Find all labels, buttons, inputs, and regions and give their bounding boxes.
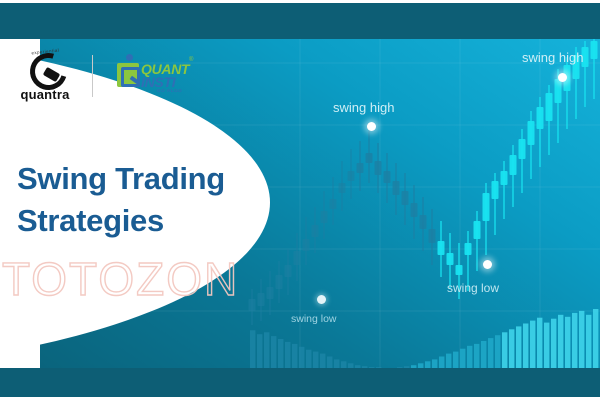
left-content: experiential quantra QUANT INSTI ® GO AL… bbox=[0, 0, 300, 400]
swing-high-1-label: swing high bbox=[333, 100, 394, 115]
swing-high-1-marker-dot bbox=[367, 122, 376, 131]
title-line-1: Swing Trading bbox=[17, 161, 225, 196]
swing-high-2-marker-dot bbox=[558, 73, 567, 82]
bottom-band bbox=[0, 368, 600, 397]
quantra-q-logo-icon: experiential bbox=[24, 50, 66, 84]
watermark: TOTOZON bbox=[2, 252, 239, 306]
top-band bbox=[0, 3, 600, 39]
swing-high-2-label: swing high bbox=[522, 50, 583, 65]
logo-divider bbox=[92, 55, 93, 97]
swing-trading-banner: swing highswing highswing lowswing low e… bbox=[0, 0, 600, 400]
top-white-margin bbox=[0, 0, 600, 3]
page-title: Swing Trading Strategies bbox=[17, 158, 277, 242]
registered-mark-icon: ® bbox=[189, 57, 193, 63]
quantra-logo[interactable]: experiential quantra bbox=[14, 50, 76, 102]
swing-low-2-marker-dot bbox=[483, 260, 492, 269]
quantinsti-logo[interactable]: QUANT INSTI ® GO ALGO bbox=[109, 54, 201, 98]
quantinsti-dot-icon bbox=[126, 54, 133, 61]
title-line-2: Strategies bbox=[17, 200, 277, 242]
logo-row: experiential quantra QUANT INSTI ® GO AL… bbox=[14, 48, 201, 104]
quantinsti-tagline: GO ALGO bbox=[157, 88, 182, 93]
swing-low-2-label: swing low bbox=[447, 281, 499, 295]
swing-low-1-marker-dot bbox=[317, 295, 326, 304]
